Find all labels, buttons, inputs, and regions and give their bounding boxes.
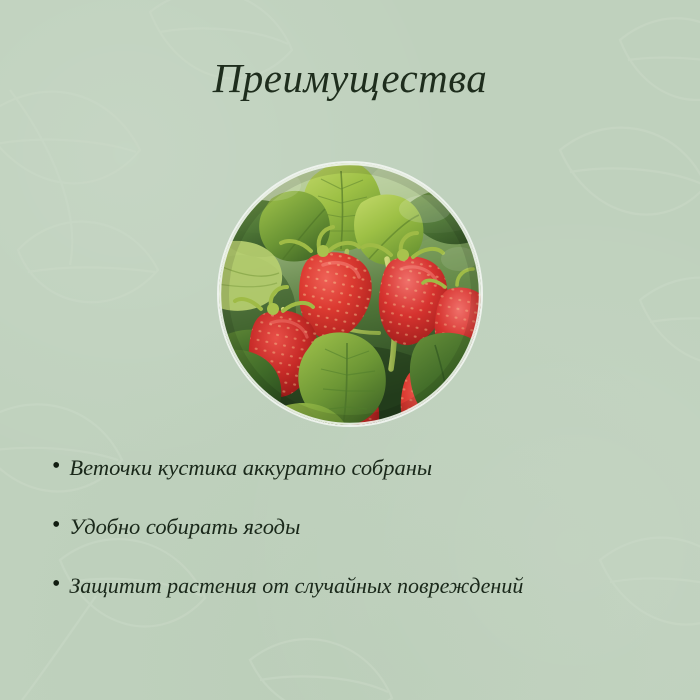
list-item: • Удобно собирать ягоды (52, 514, 672, 540)
slide-title: Преимущества (0, 56, 700, 101)
list-item: • Веточки кустика аккуратно собраны (52, 455, 672, 481)
list-item-label: Защитит растения от случайных повреждени… (69, 573, 523, 598)
bullet-marker-icon: • (52, 513, 60, 537)
bullet-marker-icon: • (52, 454, 60, 478)
list-item-label: Удобно собирать ягоды (69, 514, 300, 540)
strawberry-plant-photo (219, 163, 481, 425)
list-item: • Защитит растения от случайных поврежде… (52, 573, 672, 598)
strawberry-photo-illustration (219, 163, 481, 425)
slide-canvas: Преимущества (0, 0, 700, 700)
bullet-marker-icon: • (52, 572, 60, 596)
list-item-label: Веточки кустика аккуратно собраны (69, 455, 432, 481)
benefits-list: • Веточки кустика аккуратно собраны • Уд… (52, 455, 672, 598)
